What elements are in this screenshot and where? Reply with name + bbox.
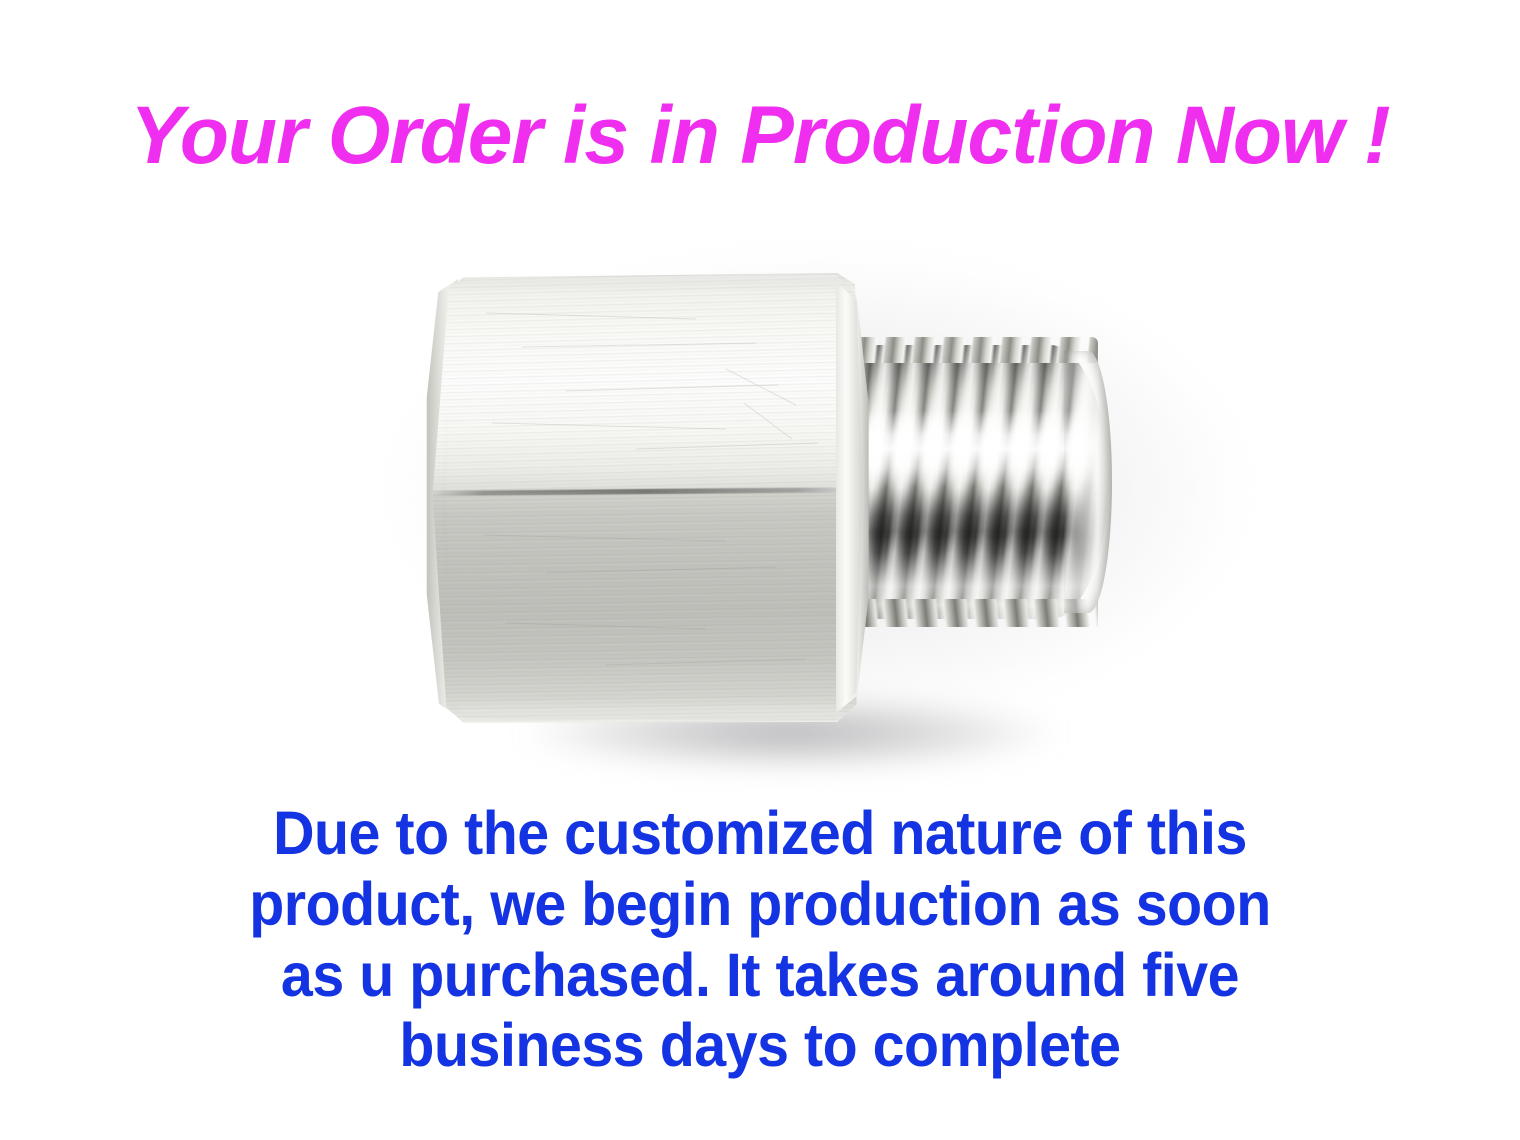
notice-line-4: business days to complete bbox=[46, 1010, 1475, 1081]
product-photo bbox=[150, 225, 1370, 795]
production-notice: Due to the customized nature of this pro… bbox=[46, 798, 1475, 1081]
nipple-end-cap bbox=[1064, 351, 1112, 613]
hex-nut-body bbox=[426, 273, 866, 723]
notice-line-3: as u purchased. It takes around five bbox=[46, 940, 1475, 1011]
male-threaded-nipple bbox=[850, 337, 1120, 627]
page-title: Your Order is in Production Now ! bbox=[15, 95, 1505, 177]
hex-pipe-adapter-fitting bbox=[150, 225, 1370, 795]
hex-facet-right bbox=[836, 283, 870, 713]
thread-crests-top bbox=[852, 337, 1098, 363]
hex-facet-top-brushed-texture bbox=[426, 273, 866, 495]
promo-banner: Your Order is in Production Now ! bbox=[0, 0, 1520, 1140]
notice-line-1: Due to the customized nature of this bbox=[46, 798, 1475, 869]
hex-facet-bottom-brushed-texture bbox=[426, 492, 866, 723]
thread-crests-bottom bbox=[852, 599, 1098, 627]
notice-line-2: product, we begin production as soon bbox=[46, 869, 1475, 940]
